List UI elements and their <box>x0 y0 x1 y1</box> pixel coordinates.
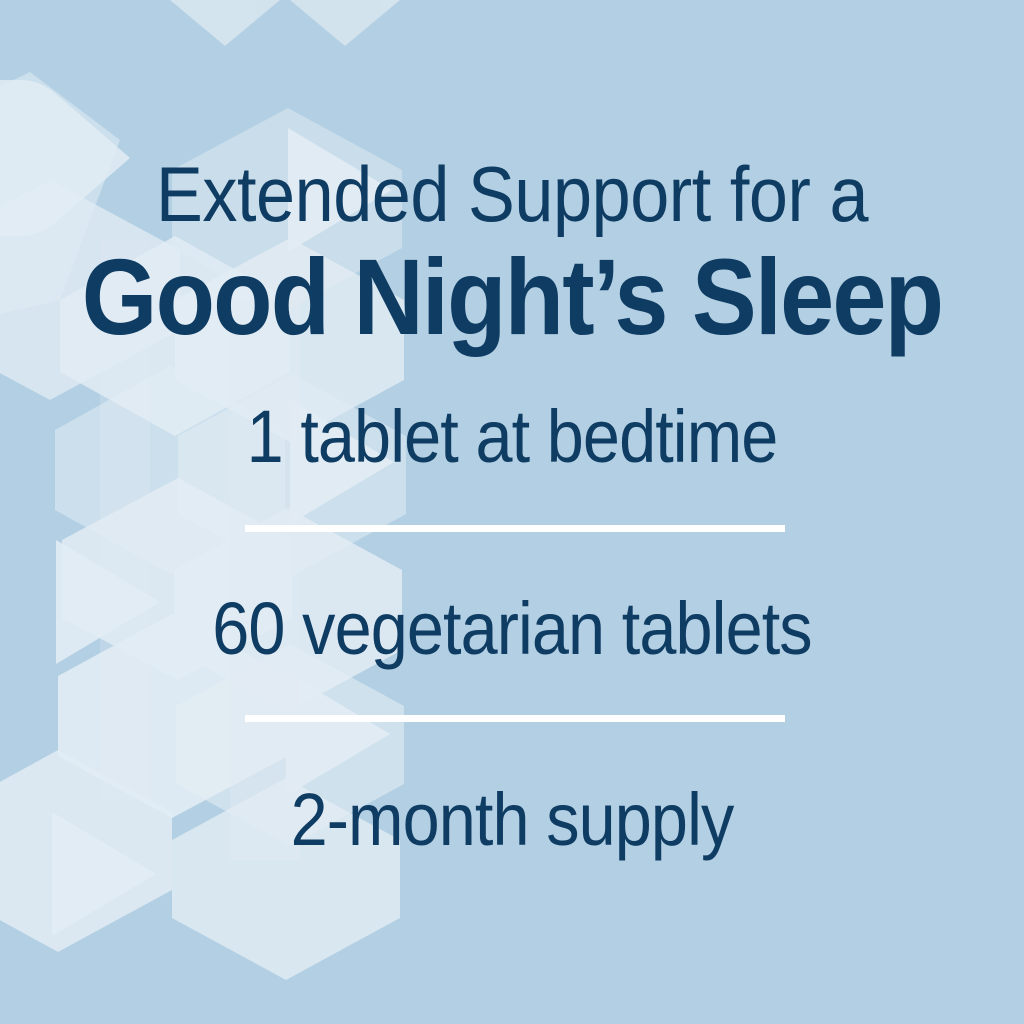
page-title: Good Night’s Sleep <box>51 243 973 351</box>
fact-supply: 2-month supply <box>51 783 973 857</box>
content-stack: Extended Support for a Good Night’s Slee… <box>0 0 1024 1024</box>
fact-count: 60 vegetarian tablets <box>51 592 973 666</box>
product-benefits-panel: Extended Support for a Good Night’s Slee… <box>0 0 1024 1024</box>
eyebrow-text: Extended Support for a <box>51 155 973 233</box>
divider-rule-1 <box>245 525 785 532</box>
divider-rule-2 <box>245 715 785 722</box>
fact-dosage: 1 tablet at bedtime <box>51 400 973 474</box>
